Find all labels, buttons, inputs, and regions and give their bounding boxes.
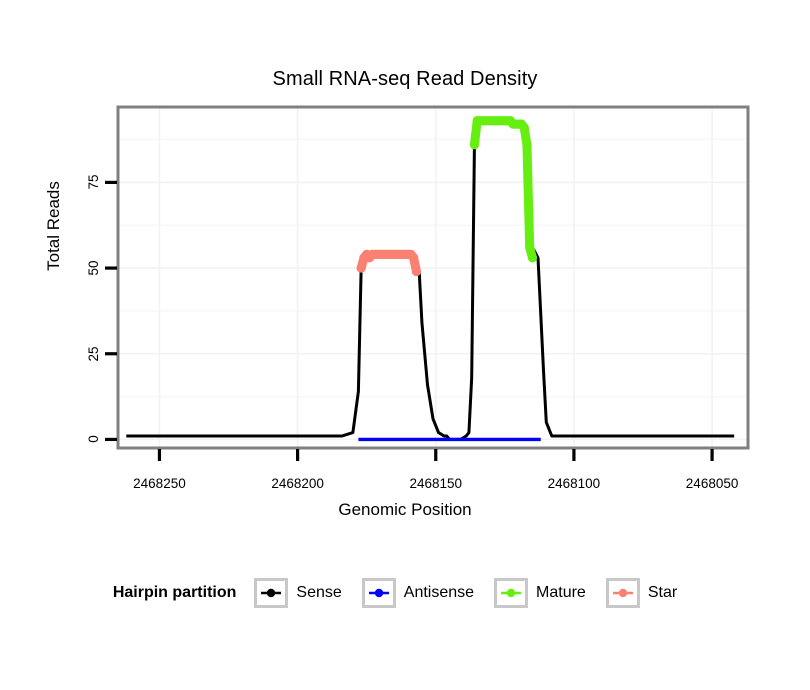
y-tick-label: 50: [74, 258, 114, 278]
x-tick-label: 2468100: [524, 476, 624, 491]
legend: Hairpin partition SenseAntisenseMatureSt…: [0, 578, 810, 608]
gridlines: [118, 107, 748, 448]
y-tick-label: 75: [74, 172, 114, 192]
legend-item-label: Mature: [536, 584, 586, 602]
legend-items: SenseAntisenseMatureStar: [254, 578, 697, 608]
legend-item-mature[interactable]: Mature: [494, 578, 600, 608]
legend-key-icon: [254, 578, 288, 608]
legend-item-label: Star: [648, 584, 677, 602]
chart-canvas: Small RNA-seq Read Density 2468250246820…: [0, 0, 810, 690]
x-tick-label: 2468250: [109, 476, 209, 491]
legend-item-label: Sense: [296, 584, 341, 602]
legend-item-sense[interactable]: Sense: [254, 578, 355, 608]
y-tick-label: 25: [74, 344, 114, 364]
legend-item-label: Antisense: [404, 584, 474, 602]
legend-key-icon: [606, 578, 640, 608]
legend-title: Hairpin partition: [113, 584, 237, 602]
x-tick-label: 2468050: [662, 476, 762, 491]
y-tick-label: 0: [74, 429, 114, 449]
x-axis-label: Genomic Position: [0, 500, 810, 520]
legend-key-icon: [362, 578, 396, 608]
x-tick-label: 2468150: [386, 476, 486, 491]
legend-item-star[interactable]: Star: [606, 578, 691, 608]
y-axis-label: Total Reads: [44, 126, 64, 326]
legend-key-icon: [494, 578, 528, 608]
legend-item-antisense[interactable]: Antisense: [362, 578, 488, 608]
x-tick-label: 2468200: [248, 476, 348, 491]
